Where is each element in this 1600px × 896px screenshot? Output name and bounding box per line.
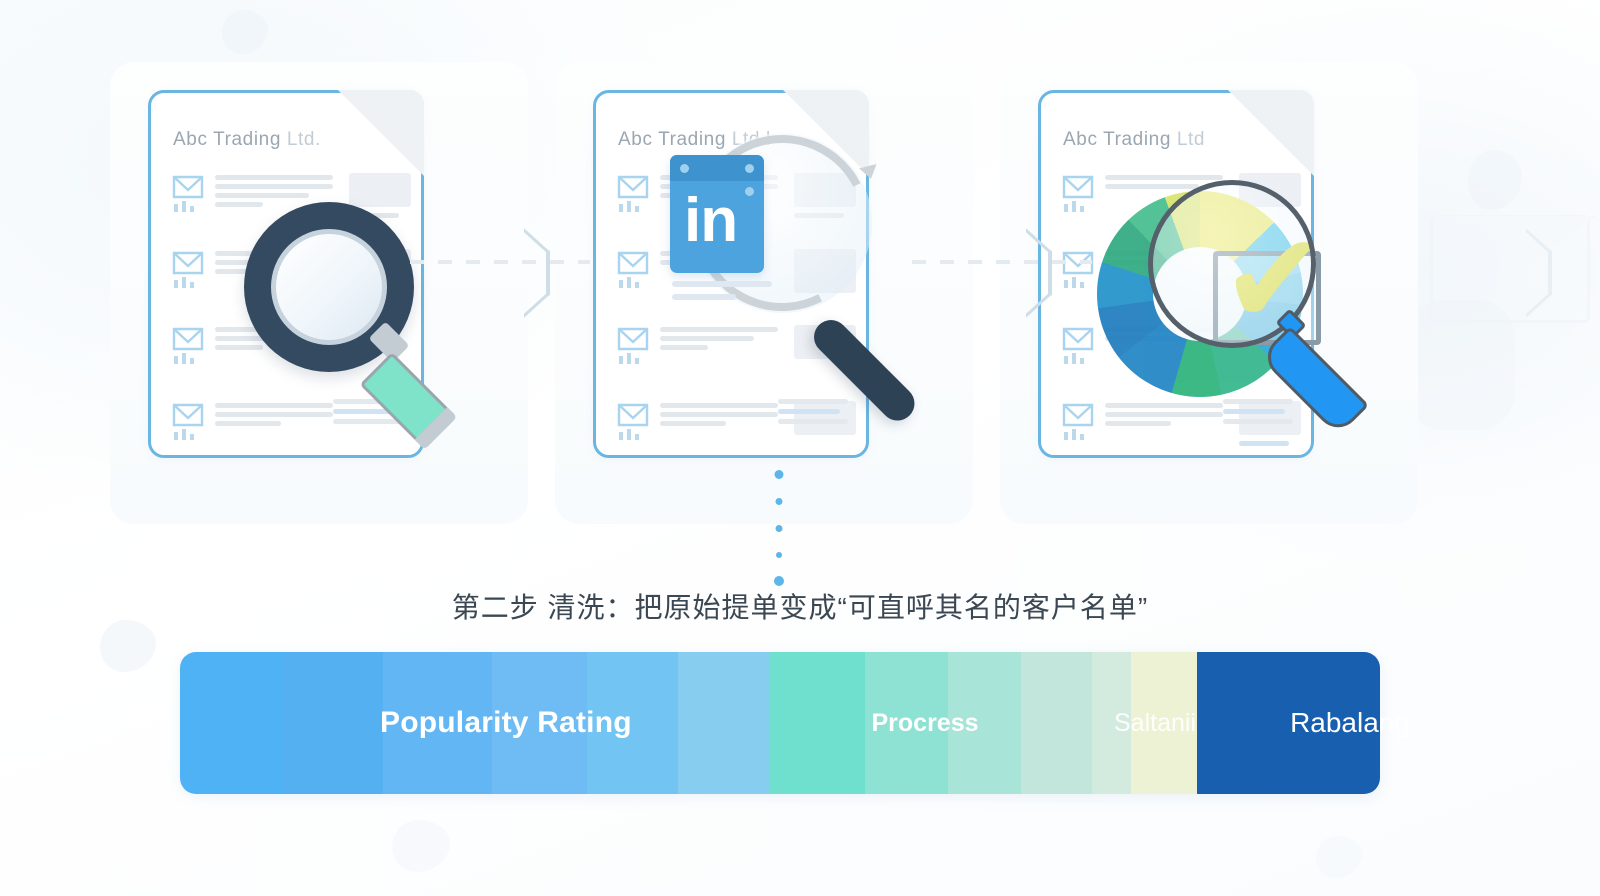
bar-segment — [770, 652, 865, 794]
connector-dot — [776, 498, 783, 505]
magnifier-handle — [1259, 326, 1369, 436]
linkedin-logo-text: in — [684, 185, 752, 261]
dashed-line — [410, 260, 590, 264]
arrow-tip — [859, 164, 880, 181]
bar-segment — [1021, 652, 1092, 794]
background-blob — [222, 10, 268, 54]
page-caption: 第二步 清洗：把原始提单变成“可直呼其名的客户名单” — [0, 586, 1600, 626]
bar-segment — [587, 652, 679, 794]
background-blob — [100, 620, 156, 672]
row-text-lines — [660, 327, 780, 354]
envelope-chart-icon — [1061, 173, 1095, 215]
connector-dot — [775, 470, 784, 479]
document-title-main: Abc Trading — [1063, 129, 1171, 150]
envelope-chart-icon — [616, 173, 650, 215]
background-blob — [392, 820, 450, 872]
connector-dot — [776, 525, 783, 532]
bar-segment — [1092, 652, 1131, 794]
magnifier-icon — [244, 202, 464, 432]
page-fold — [1228, 90, 1314, 176]
document-footer-lines — [778, 399, 848, 429]
page-fold — [338, 90, 424, 176]
linkedin-icon: in — [670, 155, 764, 273]
row-text-lines — [660, 403, 780, 430]
bar-segment — [1197, 652, 1380, 794]
envelope-chart-icon — [171, 249, 205, 291]
step-connector-arrow — [940, 232, 1080, 292]
envelope-chart-icon — [616, 249, 650, 291]
envelope-chart-icon — [616, 401, 650, 443]
document-title-suffix: Ltd — [1177, 129, 1205, 150]
magnifier-lens — [271, 229, 387, 345]
envelope-chart-icon — [1061, 325, 1095, 367]
connector-dot — [774, 576, 784, 586]
bar-segment — [948, 652, 1021, 794]
envelope-chart-icon — [171, 173, 205, 215]
bar-segment — [492, 652, 587, 794]
document-title-suffix: Ltd. — [287, 129, 321, 150]
linkedin-caption-lines — [672, 281, 772, 307]
magnifier-icon — [1148, 180, 1408, 450]
bar-segment — [865, 652, 948, 794]
gradient-progress-bar[interactable] — [180, 652, 1380, 794]
background-blob — [1316, 836, 1362, 878]
bar-segment — [283, 652, 383, 794]
bar-segment — [1131, 652, 1197, 794]
step-panel-enrich: Abc Trading Ltd.l — [555, 62, 973, 524]
background-blob — [1468, 150, 1522, 210]
steps-row: Abc Trading Ltd. — [110, 62, 1458, 524]
dashed-line — [912, 260, 1092, 264]
step-connector-arrow — [438, 232, 578, 292]
envelope-chart-icon — [1061, 401, 1095, 443]
bar-segment — [678, 652, 770, 794]
bar-segment — [180, 652, 283, 794]
illustration-canvas: @ Abc Trading Ltd. — [0, 0, 1600, 896]
linkedin-dot — [680, 164, 689, 173]
envelope-chart-icon — [171, 325, 205, 367]
document-card: Abc Trading Ltd.l — [593, 90, 869, 458]
document-title: Abc Trading Ltd — [1063, 129, 1205, 151]
document-title-main: Abc Trading — [618, 129, 726, 150]
step-panel-verify: Abc Trading Ltd — [1000, 62, 1418, 524]
linkedin-dot — [745, 164, 754, 173]
document-title: Abc Trading Ltd. — [173, 129, 321, 151]
step-connector-arrow — [1440, 232, 1580, 292]
bar-segment — [383, 652, 491, 794]
step-panel-search: Abc Trading Ltd. — [110, 62, 528, 524]
connector-dot — [776, 552, 782, 558]
document-title-main: Abc Trading — [173, 129, 281, 150]
vertical-dot-connector — [772, 470, 786, 586]
envelope-chart-icon — [171, 401, 205, 443]
envelope-chart-icon — [616, 325, 650, 367]
